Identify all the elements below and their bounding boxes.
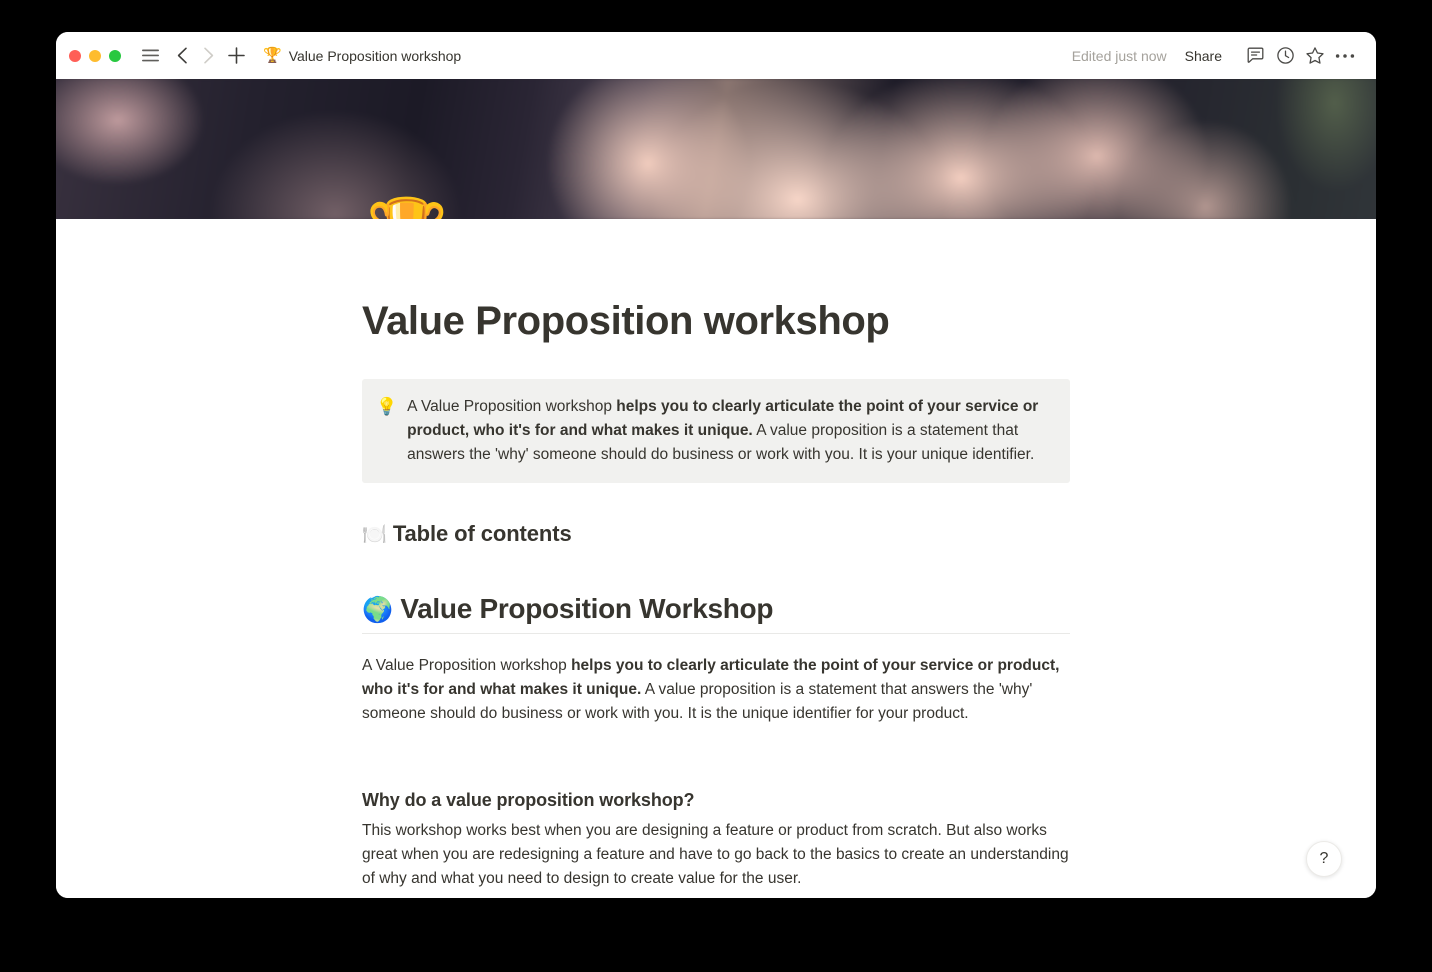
forward-chevron-icon[interactable] (195, 43, 221, 69)
share-button[interactable]: Share (1185, 48, 1222, 64)
minimize-window-button[interactable] (89, 50, 101, 62)
breadcrumb-label: Value Proposition workshop (289, 48, 462, 64)
section-heading-label: Value Proposition Workshop (400, 593, 773, 624)
page-cover-image[interactable]: 🏆 (56, 79, 1376, 219)
traffic-light-controls (69, 50, 121, 62)
breadcrumb-emoji-icon: 🏆 (263, 48, 282, 63)
notion-app-window: 🏆 Value Proposition workshop Edited just… (56, 32, 1376, 898)
more-options-icon[interactable] (1330, 41, 1360, 71)
callout-lead: A Value Proposition workshop (407, 398, 616, 415)
subsection-heading[interactable]: Why do a value proposition workshop? (362, 790, 1070, 811)
help-question-mark-icon: ? (1320, 850, 1329, 868)
content-spacer (362, 738, 1070, 790)
sidebar-toggle-icon[interactable] (137, 43, 163, 69)
plate-cutlery-icon: 🍽️ (362, 524, 387, 546)
section-heading[interactable]: 🌍 Value Proposition Workshop (362, 593, 1070, 625)
maximize-window-button[interactable] (109, 50, 121, 62)
document-scroll-area[interactable]: Value Proposition workshop 💡 A Value Pro… (56, 219, 1376, 898)
edited-status-text: Edited just now (1072, 48, 1167, 64)
close-window-button[interactable] (69, 50, 81, 62)
cover-artwork (56, 79, 1376, 219)
favorite-star-icon[interactable] (1300, 41, 1330, 71)
lightbulb-icon: 💡 (376, 395, 397, 467)
document-content: Value Proposition workshop 💡 A Value Pro… (362, 219, 1070, 891)
section-para-lead: A Value Proposition workshop (362, 657, 571, 674)
updates-clock-icon[interactable] (1270, 41, 1300, 71)
new-page-plus-icon[interactable] (223, 43, 249, 69)
subsection-paragraph[interactable]: This workshop works best when you are de… (362, 819, 1070, 891)
section-paragraph[interactable]: A Value Proposition workshop helps you t… (362, 654, 1070, 726)
section-divider (362, 633, 1070, 634)
table-of-contents-label: Table of contents (393, 521, 572, 546)
page-icon-emoji[interactable]: 🏆 (366, 199, 448, 219)
table-of-contents-heading[interactable]: 🍽️ Table of contents (362, 521, 1070, 547)
breadcrumb[interactable]: 🏆 Value Proposition workshop (263, 48, 461, 64)
globe-icon: 🌍 (362, 596, 393, 624)
callout-text: A Value Proposition workshop helps you t… (407, 395, 1054, 467)
comment-icon[interactable] (1240, 41, 1270, 71)
callout-block[interactable]: 💡 A Value Proposition workshop helps you… (362, 379, 1070, 483)
titlebar-actions: Edited just now Share (1072, 32, 1360, 79)
back-chevron-icon[interactable] (169, 43, 195, 69)
help-button[interactable]: ? (1306, 841, 1342, 877)
page-title[interactable]: Value Proposition workshop (362, 297, 1070, 345)
window-titlebar: 🏆 Value Proposition workshop Edited just… (56, 32, 1376, 79)
